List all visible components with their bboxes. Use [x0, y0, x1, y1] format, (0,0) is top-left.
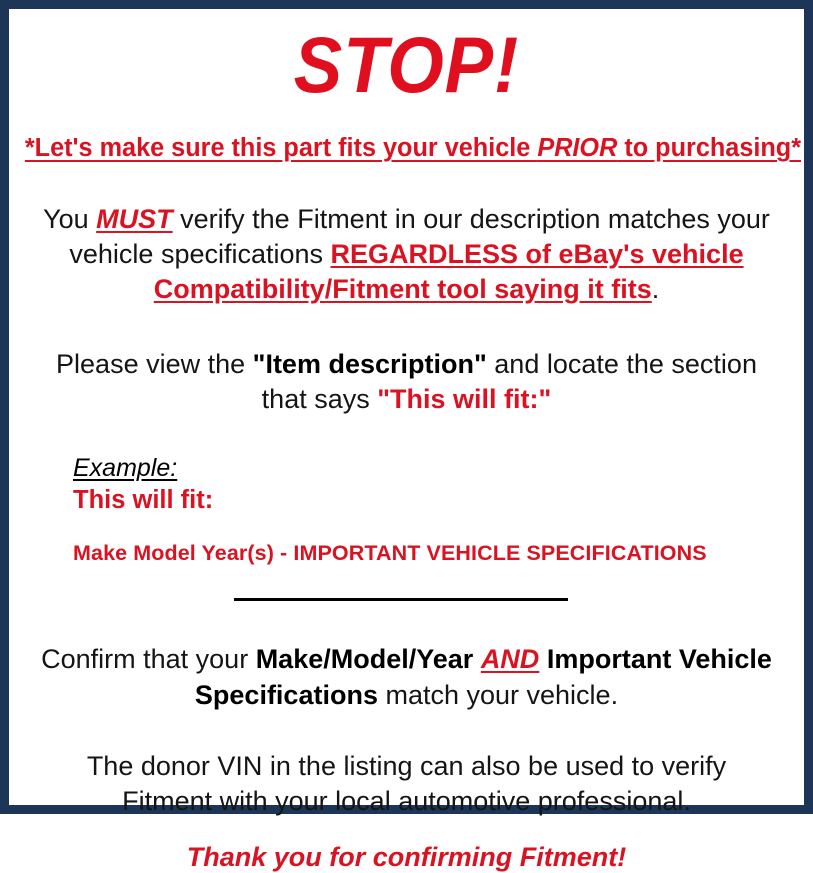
please-emphasis-this-will-fit: "This will fit:"	[377, 384, 551, 414]
confirm-segment-2	[473, 644, 481, 674]
paragraph-donor-vin: The donor VIN in the listing can also be…	[21, 749, 792, 819]
example-fit-header: This will fit:	[73, 485, 792, 515]
divider-wrap	[21, 592, 792, 608]
confirm-segment-3	[539, 644, 547, 674]
confirm-segment-4: match your vehicle.	[378, 680, 618, 710]
must-segment-1: You	[43, 204, 96, 234]
confirm-segment-1: Confirm that your	[41, 644, 256, 674]
section-divider	[234, 598, 568, 601]
paragraph-confirm: Confirm that your Make/Model/Year AND Im…	[21, 642, 792, 712]
page-title: STOP!	[52, 25, 761, 104]
must-segment-3: .	[652, 274, 660, 304]
fitment-notice-frame: STOP! *Let's make sure this part fits yo…	[0, 0, 813, 814]
thank-you-line: Thank you for confirming Fitment!	[21, 841, 792, 873]
must-emphasis-must: MUST	[96, 204, 173, 234]
confirm-emphasis-and: AND	[481, 644, 540, 674]
subtitle-text-after: to purchasing*	[617, 134, 801, 162]
paragraph-must-verify: You MUST verify the Fitment in our descr…	[21, 202, 792, 307]
example-block: Example: This will fit: Make Model Year(…	[21, 454, 792, 567]
subtitle-emphasis-prior: PRIOR	[537, 134, 617, 162]
example-spec-line: Make Model Year(s) - IMPORTANT VEHICLE S…	[73, 541, 792, 566]
paragraph-please-view: Please view the "Item description" and l…	[21, 347, 792, 417]
subtitle-banner: *Let's make sure this part fits your veh…	[25, 134, 788, 162]
example-label: Example:	[73, 454, 792, 484]
confirm-emphasis-make-model-year: Make/Model/Year	[256, 644, 474, 674]
please-emphasis-item-description: "Item description"	[253, 349, 487, 379]
subtitle-text-before: *Let's make sure this part fits your veh…	[25, 134, 537, 162]
fitment-notice-body: STOP! *Let's make sure this part fits yo…	[9, 25, 804, 821]
please-segment-1: Please view the	[56, 349, 253, 379]
